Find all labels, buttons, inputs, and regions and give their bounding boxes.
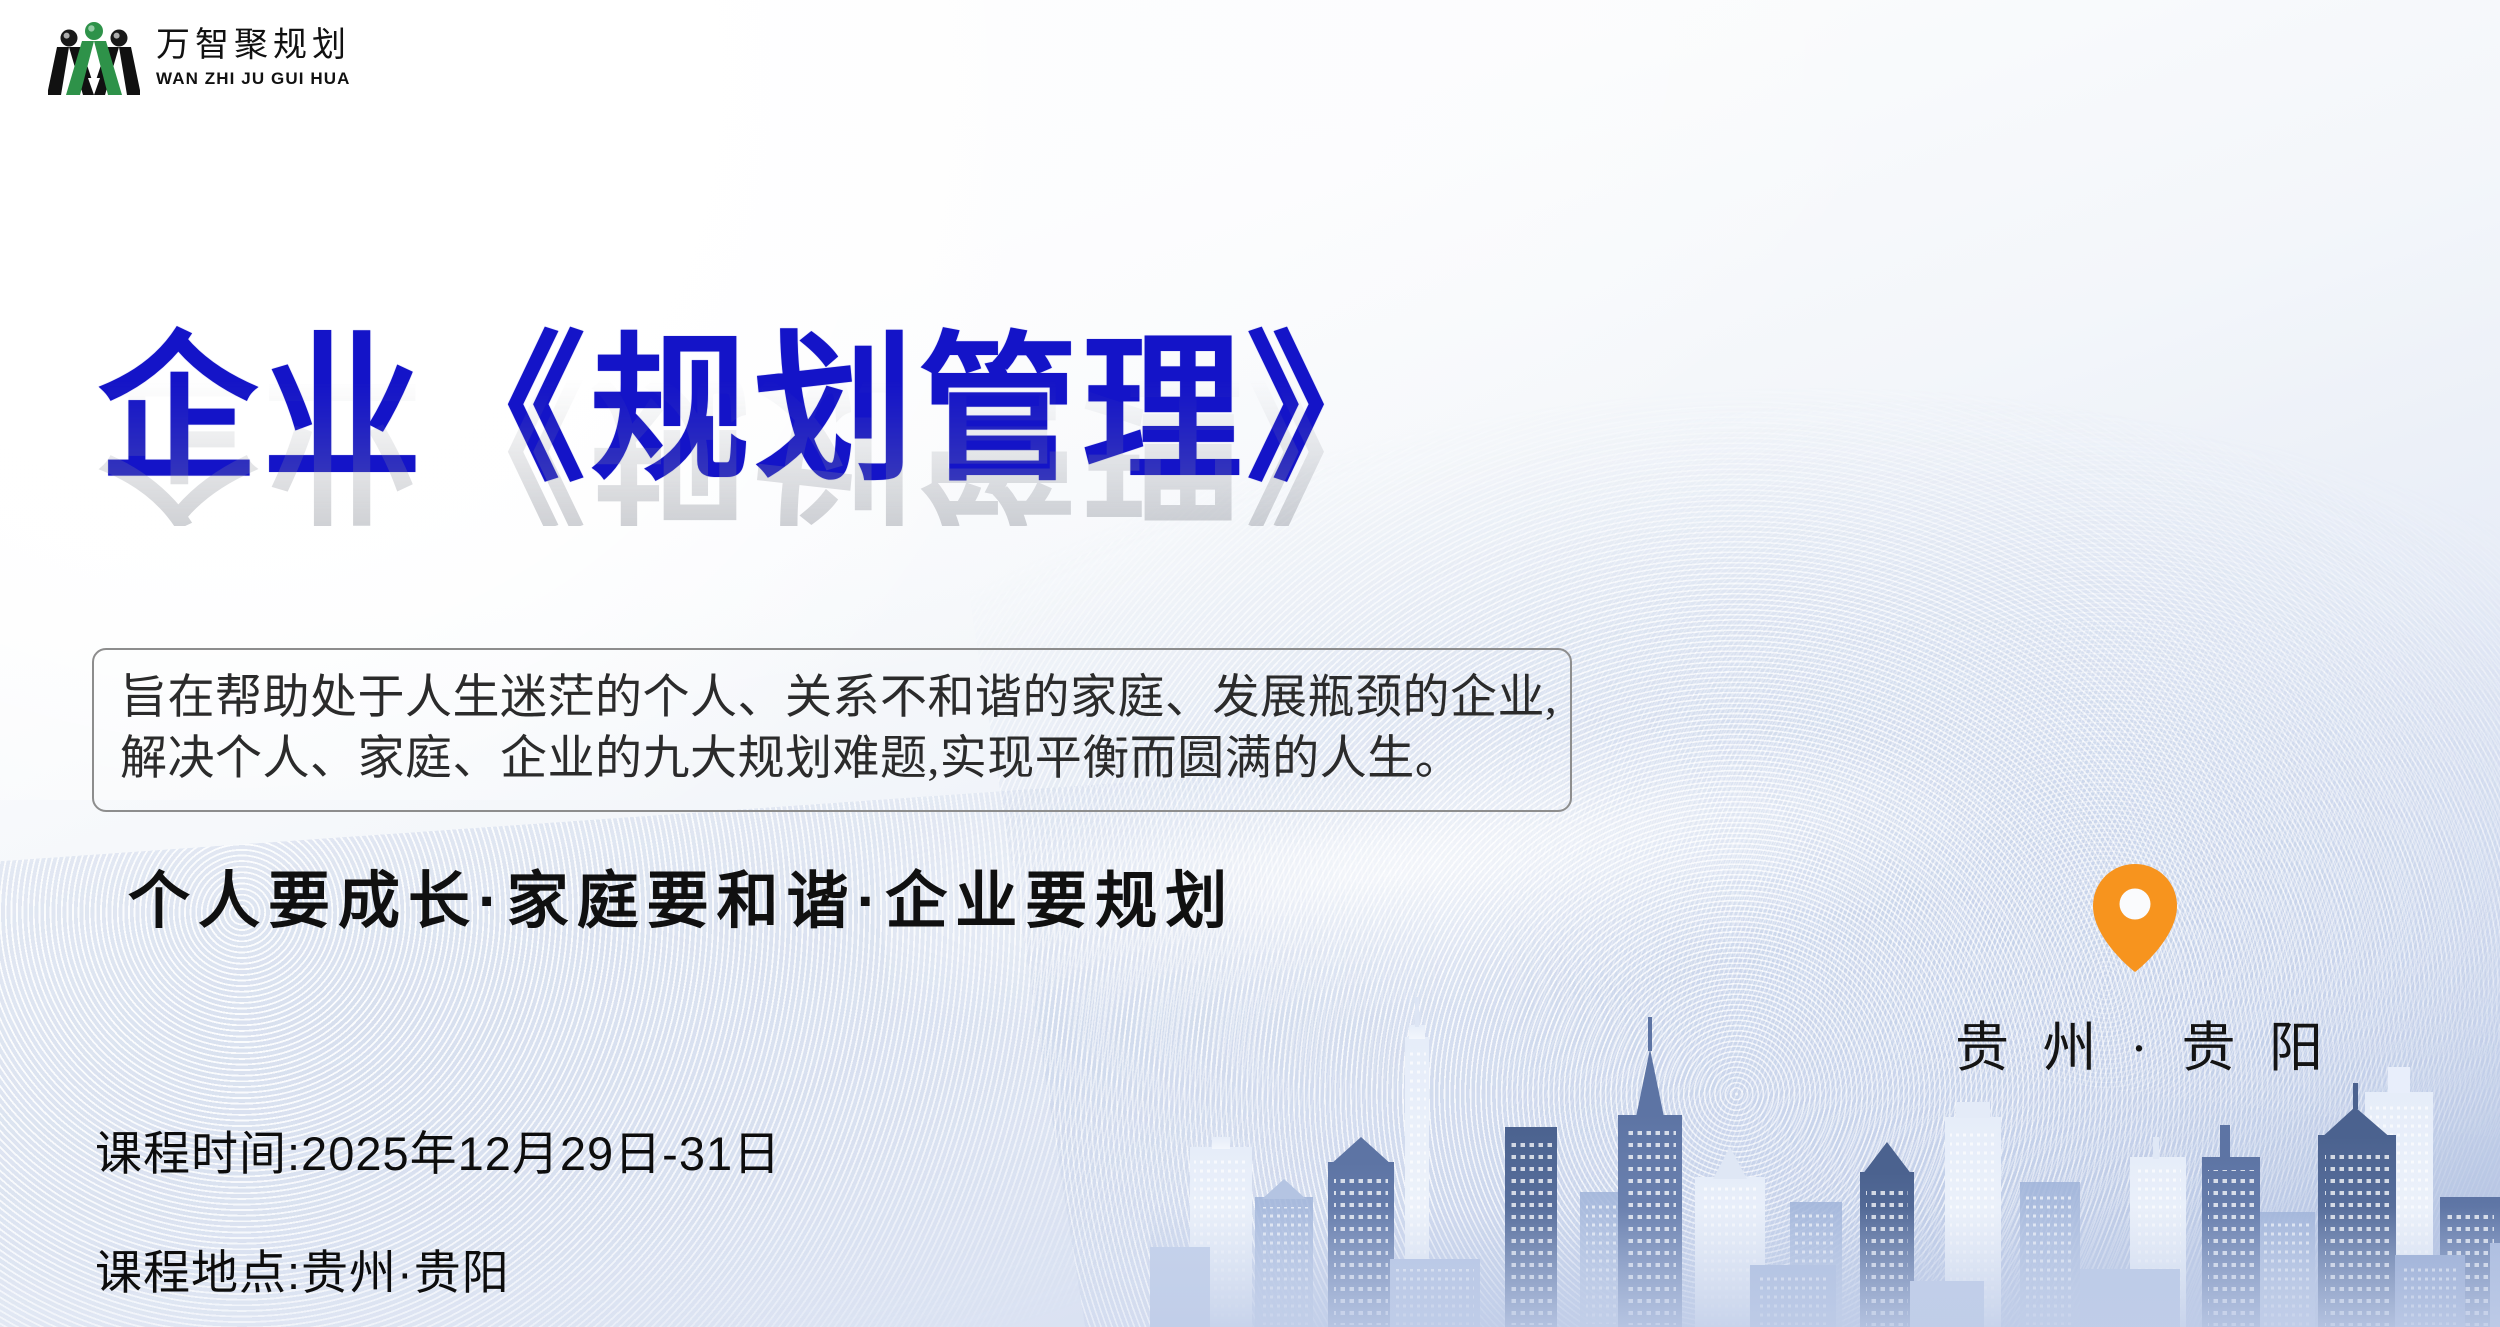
page-title: 企业《规划管理》 bbox=[98, 330, 1410, 490]
course-time: 课程时间:2025年12月29日-31日 bbox=[95, 1115, 781, 1184]
brand-logo: 万智聚规划 WAN ZHI JU GUI HUA bbox=[48, 18, 351, 98]
course-place: 课程地点:贵州·贵阳 bbox=[95, 1234, 781, 1303]
three-people-logo-icon bbox=[48, 18, 140, 98]
headline-group: 企业《规划管理》 企业《规划管理》 bbox=[98, 330, 1410, 490]
location-label: 贵 州 · 贵 阳 bbox=[1955, 1003, 2315, 1082]
description-box: 旨在帮助处于人生迷茫的个人、关系不和谐的家庭、发展瓶颈的企业, 解决个人、家庭、… bbox=[92, 648, 1572, 812]
brand-wordmark: 万智聚规划 WAN ZHI JU GUI HUA bbox=[156, 29, 351, 87]
skyline-haze bbox=[1150, 1207, 2500, 1327]
location-block: 贵 州 · 贵 阳 bbox=[1955, 858, 2315, 1082]
slogan-text: 个人要成长·家庭要和谐·企业要规划 bbox=[128, 850, 1235, 940]
poster-canvas: 万智聚规划 WAN ZHI JU GUI HUA 企业《规划管理》 企业《规划管… bbox=[0, 0, 2500, 1327]
brand-name-en: WAN ZHI JU GUI HUA bbox=[156, 70, 351, 87]
description-line-2: 解决个人、家庭、企业的九大规划难题,实现平衡而圆满的人生。 bbox=[120, 729, 1544, 790]
brand-name-cn: 万智聚规划 bbox=[156, 29, 351, 63]
description-line-1: 旨在帮助处于人生迷茫的个人、关系不和谐的家庭、发展瓶颈的企业, bbox=[120, 668, 1544, 729]
course-info: 课程时间:2025年12月29日-31日 课程地点:贵州·贵阳 bbox=[95, 1115, 781, 1303]
map-pin-icon bbox=[1955, 858, 2315, 983]
